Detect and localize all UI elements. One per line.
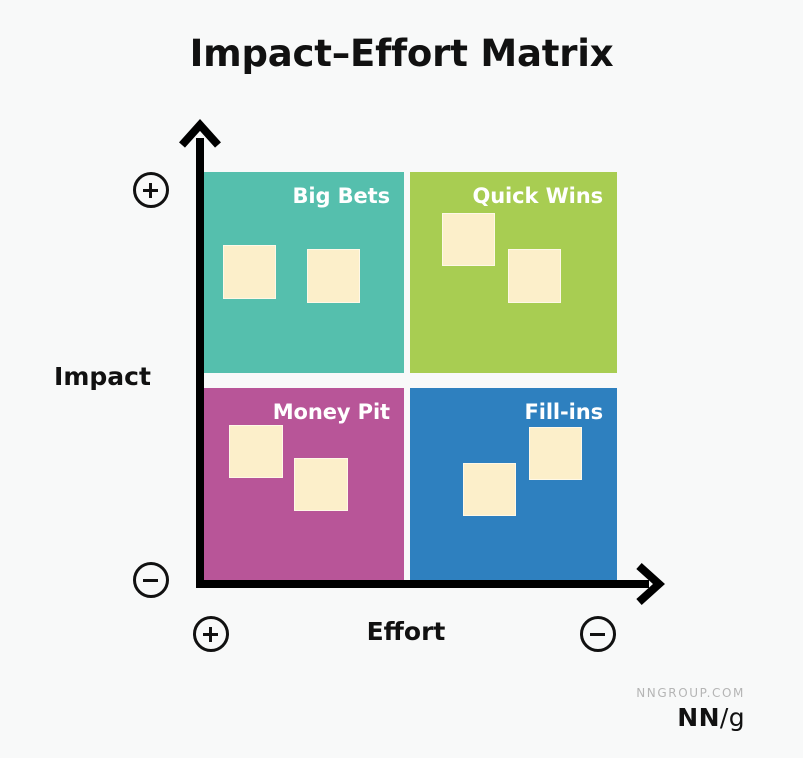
quadrant-money-pit[interactable]: Money Pit: [204, 388, 404, 580]
quadrant-big-bets[interactable]: Big Bets: [204, 172, 404, 373]
x-axis-line: [196, 580, 649, 588]
quadrant-label-money-pit: Money Pit: [273, 400, 390, 424]
plus-circle-icon-effort-high: [193, 616, 229, 652]
brand-url: NNGROUP.COM: [636, 686, 745, 701]
nng-logo-nn: NN: [677, 703, 720, 732]
sticky-note[interactable]: [508, 249, 561, 302]
sticky-note[interactable]: [529, 427, 582, 480]
sticky-note[interactable]: [229, 425, 283, 478]
sticky-note[interactable]: [307, 249, 360, 302]
sticky-note[interactable]: [223, 245, 276, 298]
nng-logo: NN/g: [636, 703, 745, 733]
y-axis-label: Impact: [30, 362, 175, 391]
sticky-note[interactable]: [442, 213, 495, 266]
y-axis-line: [196, 138, 204, 588]
minus-horizontal-bar: [590, 633, 605, 637]
x-axis-arrow-icon: [623, 563, 665, 605]
y-axis-arrow-icon: [179, 119, 221, 161]
brand-block: NNGROUP.COM NN/g: [636, 686, 745, 733]
quadrant-fill-ins[interactable]: Fill-ins: [410, 388, 617, 580]
quadrant-quick-wins[interactable]: Quick Wins: [410, 172, 617, 373]
plus-circle-icon-impact-high: [133, 172, 169, 208]
plus-vertical-bar: [209, 627, 213, 642]
page-title: Impact–Effort Matrix: [0, 32, 803, 76]
nng-logo-slash-g: /g: [720, 703, 745, 732]
minus-circle-icon-effort-low: [580, 616, 616, 652]
quadrant-label-quick-wins: Quick Wins: [472, 184, 603, 208]
impact-effort-matrix-figure: Impact–Effort Matrix Big Bets Quick Wins…: [0, 0, 803, 758]
x-axis-label: Effort: [296, 617, 516, 646]
minus-circle-icon-impact-low: [133, 562, 169, 598]
minus-horizontal-bar: [143, 579, 158, 583]
plus-vertical-bar: [149, 183, 153, 198]
sticky-note[interactable]: [463, 463, 516, 516]
quadrant-label-fill-ins: Fill-ins: [524, 400, 603, 424]
quadrant-label-big-bets: Big Bets: [292, 184, 390, 208]
sticky-note[interactable]: [294, 458, 348, 511]
